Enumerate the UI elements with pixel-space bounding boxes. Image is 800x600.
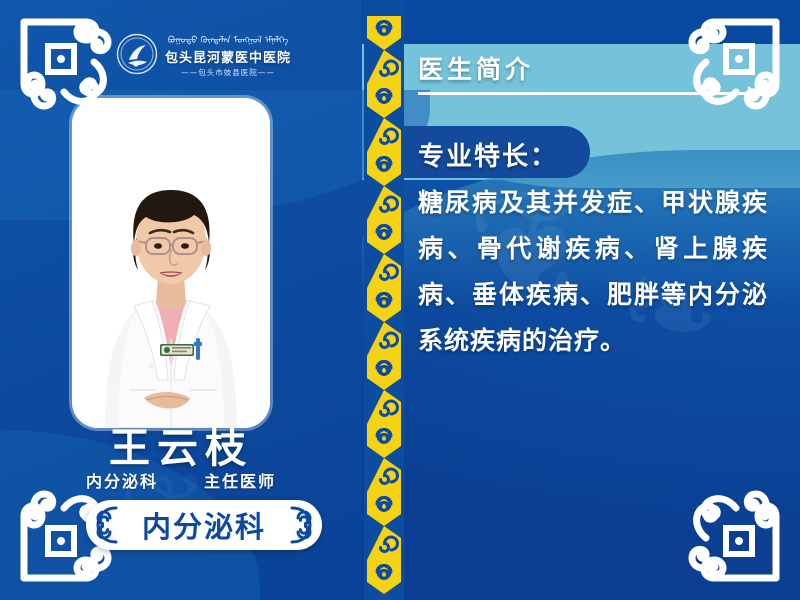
specialty-body-text: 糖尿病及其并发症、甲状腺疾病、骨代谢疾病、肾上腺疾病、垂体疾病、肥胖等内分泌系统… bbox=[418, 180, 768, 364]
specialty-label: 专业特长： bbox=[418, 136, 558, 173]
mongolian-horn-pattern-divider bbox=[364, 0, 404, 600]
heading-underline-arrow-icon bbox=[748, 86, 759, 100]
doctor-portrait-photo bbox=[72, 98, 270, 428]
department-badge-label: 内分泌科 bbox=[136, 504, 272, 546]
hospital-name-mongolian: ᠪᠤᠭᠤᠲᠤ ᠬᠦᠨᠳᠡᠯᠡᠨ ᠮᠣᠩᠭᠣᠯ ᠡᠮᠨᠡᠯᠭᠡ bbox=[168, 30, 289, 46]
hospital-logo: ᠪᠤᠭᠤᠲᠤ ᠬᠦᠨᠳᠡᠯᠡᠨ ᠮᠣᠩᠭᠣᠯ ᠡᠮᠨᠡᠯᠭᠡ 包头昆河蒙医中医院… bbox=[116, 30, 291, 78]
cloud-scroll-corner-icon bbox=[676, 4, 794, 116]
doctor-profile-card: ❦ ❧ ❦ bbox=[0, 0, 800, 600]
department-badge[interactable]: 内分泌科 bbox=[86, 500, 322, 550]
hospital-logo-text: ᠪᠤᠭᠤᠲᠤ ᠬᠦᠨᠳᠡᠯᠡᠨ ᠮᠣᠩᠭᠣᠯ ᠡᠮᠨᠡᠯᠭᠡ 包头昆河蒙医中医院… bbox=[165, 30, 291, 78]
doctor-title: 主任医师 bbox=[204, 468, 276, 492]
hospital-name-chinese: 包头昆河蒙医中医院 bbox=[165, 47, 291, 66]
panel-heading: 医生简介 bbox=[418, 50, 534, 86]
heading-underline bbox=[418, 92, 748, 95]
doctor-meta: 内分泌科 主任医师 bbox=[0, 468, 362, 492]
cloud-scroll-icon bbox=[90, 500, 124, 550]
doctor-department: 内分泌科 bbox=[86, 468, 158, 492]
cloud-scroll-icon bbox=[284, 500, 318, 550]
hospital-emblem-icon bbox=[116, 33, 158, 75]
cloud-scroll-corner-icon bbox=[676, 484, 794, 596]
hospital-subtitle: ——包头市妓县医院—— bbox=[181, 67, 275, 78]
doctor-name: 王云枝 bbox=[0, 414, 362, 474]
